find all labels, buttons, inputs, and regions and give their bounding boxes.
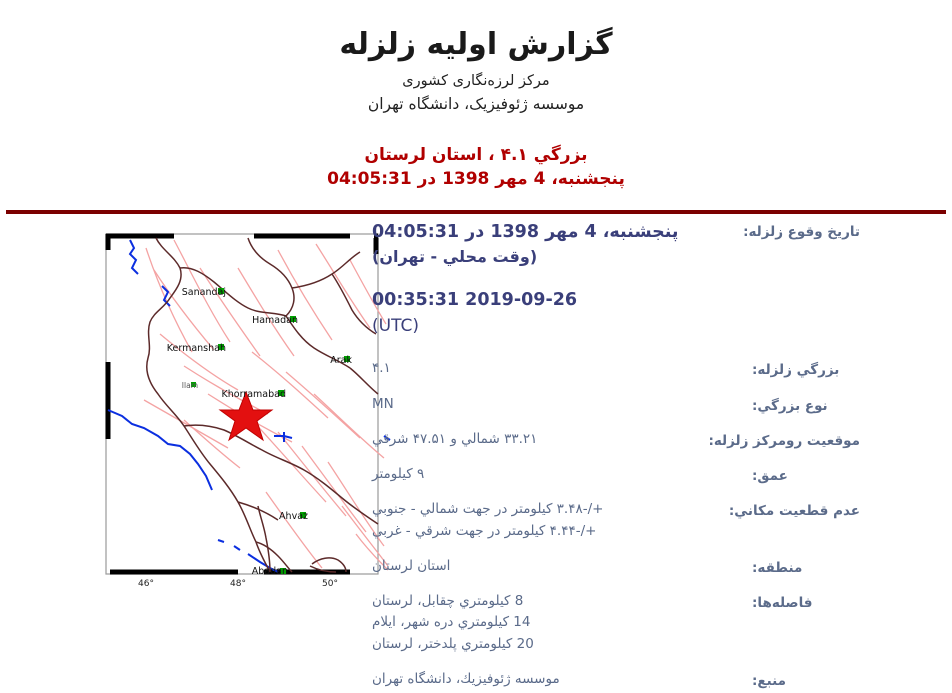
report-body: Sanandaj Hamadan Kermanshah Arak Ilam Kh… <box>0 214 952 654</box>
value-distances: 8 کيلومتري چقابل، لرستان 14 کيلومتري دره… <box>360 591 752 656</box>
svg-text:Abadan: Abadan <box>252 566 288 577</box>
alert-magnitude-region: بزرگي ۴.۱ ، استان لرستان <box>0 143 952 168</box>
row-epicenter: موقعيت رومرکز زلزله: ۳۳.۲۱ شمالي و ۴۷.۵۱… <box>360 429 860 451</box>
label-source: منبع: <box>752 669 860 691</box>
label-distances: فاصله‌ها: <box>752 591 860 613</box>
label-depth: عمق: <box>752 464 860 486</box>
row-distances: فاصله‌ها: 8 کيلومتري چقابل، لرستان 14 کي… <box>360 591 860 656</box>
earthquake-report-page: گزارش اوليه زلزله مرکز لرزه‌نگاری کشوری … <box>0 0 952 693</box>
svg-text:Hamadan: Hamadan <box>252 315 298 326</box>
label-magnitude: بزرگي زلزله: <box>752 358 860 380</box>
row-magnitude: بزرگي زلزله: ۴.۱ <box>360 358 860 380</box>
report-header: گزارش اوليه زلزله مرکز لرزه‌نگاری کشوری … <box>0 0 952 117</box>
organization-line-1: مرکز لرزه‌نگاری کشوری <box>0 71 952 93</box>
x-tick-46: 46° <box>138 579 154 589</box>
value-magnitude-type: MN <box>360 394 752 416</box>
x-tick-50: 50° <box>322 579 338 589</box>
epicenter-map[interactable]: Sanandaj Hamadan Kermanshah Arak Ilam Kh… <box>88 224 392 596</box>
origin-time-utc-note: (UTC) <box>372 314 752 339</box>
page-title: گزارش اوليه زلزله <box>0 26 952 64</box>
value-origin-time-utc: 2019-09-26 00:35:31 (UTC) <box>360 288 752 338</box>
svg-text:Kermanshah: Kermanshah <box>167 343 226 354</box>
row-depth: عمق: ۹ کيلومتر <box>360 464 860 486</box>
organization-line-2: موسسه ژئوفیزیک، دانشگاه تهران <box>0 93 952 116</box>
alert-summary: بزرگي ۴.۱ ، استان لرستان پنجشنبه، 4 مهر … <box>0 143 952 192</box>
row-uncertainty: عدم قطعيت مکاني: +/-۳.۴۸ کيلومتر در جهت … <box>360 499 860 542</box>
row-region: منطقه: استان لرستان <box>360 556 860 578</box>
earthquake-details-table: تاريخ وقوع زلزله: پنجشنبه، 4 مهر 1398 در… <box>360 220 860 693</box>
label-epicenter: موقعيت رومرکز زلزله: <box>708 429 860 451</box>
label-origin-time: تاريخ وقوع زلزله: <box>743 220 860 242</box>
svg-text:Sanandaj: Sanandaj <box>182 287 226 298</box>
value-source: موسسه ژئوفيزيك، دانشگاه تهران <box>360 669 752 691</box>
origin-time-local-note: (وقت محلي - تهران) <box>372 245 743 268</box>
row-origin-time-utc: 2019-09-26 00:35:31 (UTC) <box>360 288 860 338</box>
svg-text:Khorramabad: Khorramabad <box>222 389 287 400</box>
svg-text:Ilam: Ilam <box>182 381 198 390</box>
label-origin-time-utc-spacer <box>752 288 860 290</box>
map-graphic: Sanandaj Hamadan Kermanshah Arak Ilam Kh… <box>88 224 392 596</box>
row-source: منبع: موسسه ژئوفيزيك، دانشگاه تهران <box>360 669 860 691</box>
x-tick-48: 48° <box>230 579 246 589</box>
value-region: استان لرستان <box>360 556 752 578</box>
distance-item-1: 8 کيلومتري چقابل، لرستان <box>372 591 752 613</box>
origin-time-local: پنجشنبه، 4 مهر 1398 در 04:05:31 <box>372 220 743 245</box>
value-epicenter: ۳۳.۲۱ شمالي و ۴۷.۵۱ شرقي <box>360 429 708 451</box>
value-uncertainty: +/-۳.۴۸ کيلومتر در جهت شمالي - جنوبي +/-… <box>360 499 729 542</box>
alert-datetime: پنجشنبه، 4 مهر 1398 در 04:05:31 <box>0 167 952 192</box>
label-magnitude-type: نوع بزرگي: <box>752 394 860 416</box>
uncertainty-ew: +/-۴.۴۴ کيلومتر در جهت شرقي - غربي <box>372 521 729 543</box>
value-depth: ۹ کيلومتر <box>360 464 752 486</box>
row-origin-time: تاريخ وقوع زلزله: پنجشنبه، 4 مهر 1398 در… <box>360 220 860 269</box>
svg-text:Arak: Arak <box>330 355 352 366</box>
value-magnitude: ۴.۱ <box>360 358 752 380</box>
distance-item-3: 20 کيلومتري پلدختر، لرستان <box>372 634 752 656</box>
label-uncertainty: عدم قطعيت مکاني: <box>729 499 860 521</box>
row-magnitude-type: نوع بزرگي: MN <box>360 394 860 416</box>
origin-time-utc: 2019-09-26 00:35:31 <box>372 290 577 310</box>
value-origin-time: پنجشنبه، 4 مهر 1398 در 04:05:31 (وقت محل… <box>360 220 743 269</box>
distance-item-2: 14 کيلومتري دره شهر، ايلام <box>372 612 752 634</box>
uncertainty-ns: +/-۳.۴۸ کيلومتر در جهت شمالي - جنوبي <box>372 499 729 521</box>
svg-text:Ahvaz: Ahvaz <box>279 511 308 522</box>
label-region: منطقه: <box>752 556 860 578</box>
